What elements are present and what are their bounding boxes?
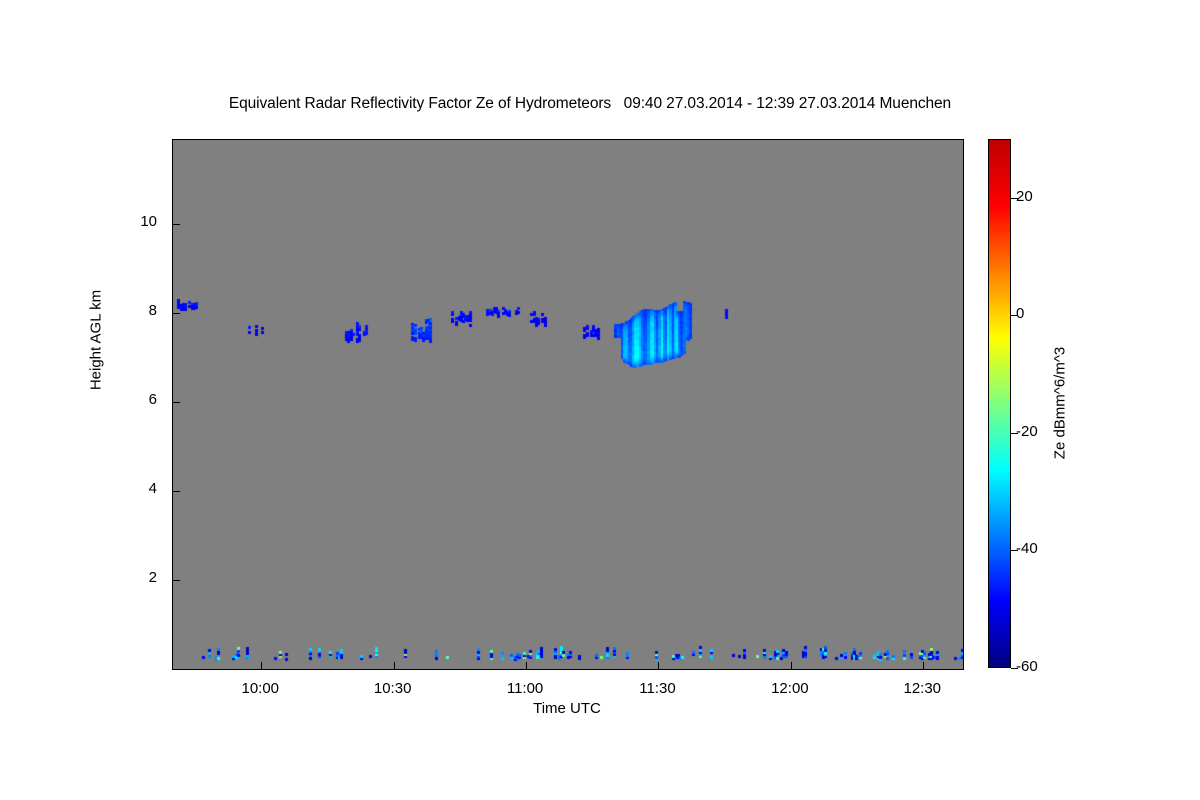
y-minor-tick bbox=[172, 269, 173, 270]
y-tick-inner-6 bbox=[173, 402, 180, 403]
colorbar-tick-label--20: -20 bbox=[1016, 423, 1038, 440]
colorbar-tick-label-0: 0 bbox=[1016, 305, 1024, 322]
y-tick-label-6: 6 bbox=[117, 391, 157, 408]
page-title: Equivalent Radar Reflectivity Factor Ze … bbox=[0, 95, 1180, 113]
y-tick-inner-8 bbox=[173, 313, 180, 314]
x-tick-label-10:00: 10:00 bbox=[225, 680, 295, 697]
colorbar-tick-label--60: -60 bbox=[1016, 658, 1038, 675]
y-tick-label-10: 10 bbox=[117, 213, 157, 230]
x-tick-inner-10:30 bbox=[394, 662, 395, 669]
y-minor-tick bbox=[172, 180, 173, 181]
x-tick-label-12:00: 12:00 bbox=[755, 680, 825, 697]
colorbar-gradient bbox=[988, 139, 1011, 668]
x-tick-10:00 bbox=[261, 669, 262, 670]
radar-reflectivity-figure: Equivalent Radar Reflectivity Factor Ze … bbox=[0, 0, 1200, 800]
y-axis-label: Height AGL km bbox=[88, 290, 105, 390]
x-tick-12:00 bbox=[791, 669, 792, 670]
x-tick-inner-12:00 bbox=[791, 662, 792, 669]
x-minor-tick bbox=[327, 669, 328, 670]
x-minor-tick bbox=[592, 669, 593, 670]
x-tick-label-12:30: 12:30 bbox=[887, 680, 957, 697]
colorbar-tick-label-20: 20 bbox=[1016, 188, 1033, 205]
x-tick-11:00 bbox=[526, 669, 527, 670]
plot-area bbox=[172, 139, 964, 670]
x-minor-tick bbox=[857, 669, 858, 670]
y-tick-label-2: 2 bbox=[117, 569, 157, 586]
y-minor-tick bbox=[172, 536, 173, 537]
y-minor-tick bbox=[172, 625, 173, 626]
y-tick-inner-4 bbox=[173, 491, 180, 492]
y-tick-inner-2 bbox=[173, 580, 180, 581]
x-tick-12:30 bbox=[923, 669, 924, 670]
x-tick-inner-11:30 bbox=[658, 662, 659, 669]
reflectivity-heatmap-canvas bbox=[173, 140, 963, 669]
y-tick-inner-10 bbox=[173, 224, 180, 225]
x-tick-label-11:30: 11:30 bbox=[622, 680, 692, 697]
y-tick-label-4: 4 bbox=[117, 480, 157, 497]
x-tick-10:30 bbox=[394, 669, 395, 670]
x-axis-label: Time UTC bbox=[533, 700, 601, 717]
colorbar-tick-label--40: -40 bbox=[1016, 540, 1038, 557]
x-minor-tick bbox=[725, 669, 726, 670]
y-minor-tick bbox=[172, 447, 173, 448]
x-minor-tick bbox=[460, 669, 461, 670]
x-minor-tick bbox=[195, 669, 196, 670]
x-tick-label-11:00: 11:00 bbox=[490, 680, 560, 697]
colorbar bbox=[988, 139, 1011, 668]
y-tick-label-8: 8 bbox=[117, 302, 157, 319]
x-tick-inner-11:00 bbox=[526, 662, 527, 669]
x-tick-label-10:30: 10:30 bbox=[358, 680, 428, 697]
colorbar-axis-label: Ze dBmm^6/m^3 bbox=[1052, 347, 1069, 459]
y-minor-tick bbox=[172, 358, 173, 359]
x-tick-inner-10:00 bbox=[261, 662, 262, 669]
x-tick-inner-12:30 bbox=[923, 662, 924, 669]
x-tick-11:30 bbox=[658, 669, 659, 670]
